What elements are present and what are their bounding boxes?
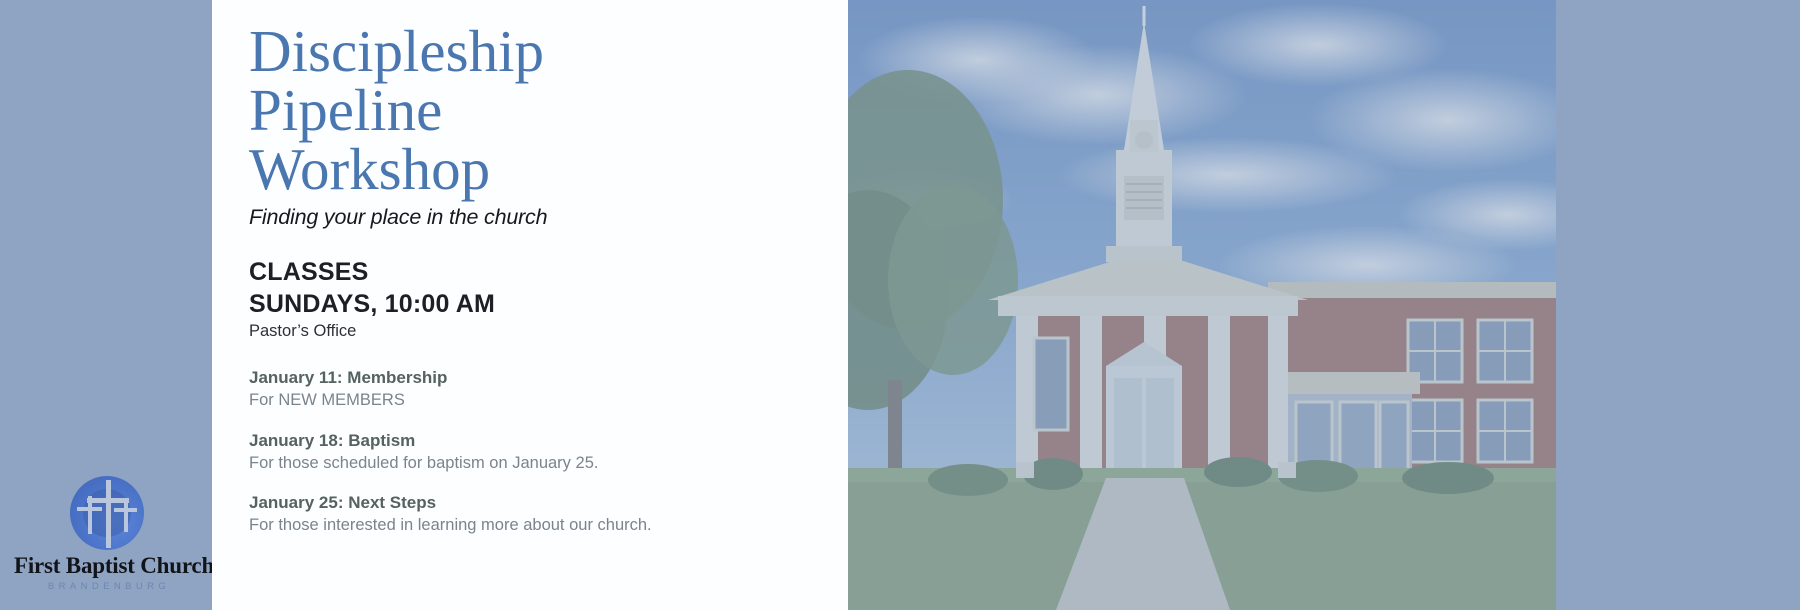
classes-block: CLASSES SUNDAYS, 10:00 AM Pastor’s Offic… — [249, 256, 830, 341]
church-building-photo — [848, 0, 1556, 610]
page-title: Discipleship Pipeline Workshop — [249, 22, 830, 199]
church-logo: First Baptist Church BRANDENBURG — [14, 476, 200, 592]
session-title: January 11: Membership — [249, 367, 830, 389]
session-description: For those interested in learning more ab… — [249, 515, 830, 536]
cross-right-icon — [121, 498, 130, 532]
classes-time: SUNDAYS, 10:00 AM — [249, 288, 830, 320]
session-list: January 11: Membership For NEW MEMBERS J… — [249, 367, 830, 537]
session-title: January 25: Next Steps — [249, 492, 830, 514]
logo-location: BRANDENBURG — [14, 581, 200, 592]
classes-location: Pastor’s Office — [249, 322, 830, 341]
church-photo-illustration — [848, 0, 1556, 610]
event-banner: First Baptist Church BRANDENBURG Discipl… — [0, 0, 1800, 610]
three-crosses-circle-logo-icon — [70, 476, 144, 550]
brand-strip: First Baptist Church BRANDENBURG — [0, 0, 212, 610]
session-description: For those scheduled for baptism on Janua… — [249, 453, 830, 474]
content-panel: Discipleship Pipeline Workshop Finding y… — [212, 0, 848, 610]
headline-line-1: Discipleship — [249, 22, 830, 81]
logo-church-name: First Baptist Church — [14, 554, 200, 578]
list-item: January 18: Baptism For those scheduled … — [249, 430, 830, 475]
session-title: January 18: Baptism — [249, 430, 830, 452]
list-item: January 25: Next Steps For those interes… — [249, 492, 830, 537]
classes-label: CLASSES — [249, 256, 830, 288]
cross-center-icon — [101, 480, 114, 548]
session-description: For NEW MEMBERS — [249, 390, 830, 411]
list-item: January 11: Membership For NEW MEMBERS — [249, 367, 830, 412]
headline-line-3: Workshop — [249, 140, 830, 199]
headline-line-2: Pipeline — [249, 81, 830, 140]
right-background-fill — [1556, 0, 1800, 610]
subtitle: Finding your place in the church — [249, 205, 830, 230]
